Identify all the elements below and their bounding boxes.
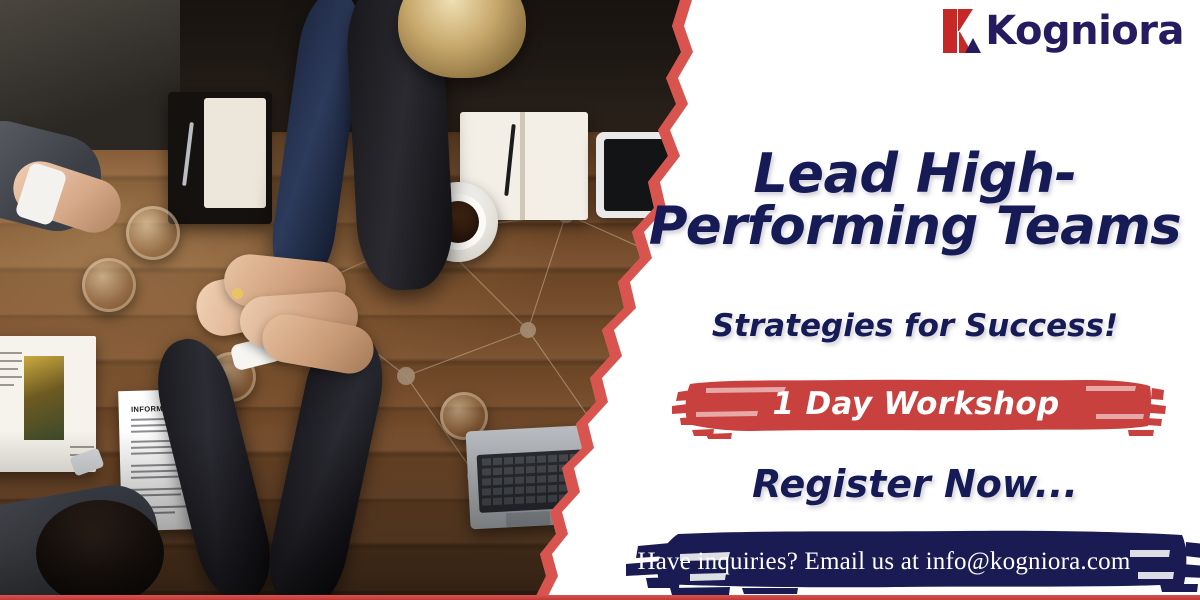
brand-logo[interactable]: Kogniora: [939, 6, 1184, 56]
gold-ring: [232, 288, 243, 299]
bottom-red-rule: [0, 595, 1200, 600]
contact-footer: Have inquiries? Email us at info@kognior…: [530, 524, 1200, 596]
event-promo-banner: INFORMATION: [0, 0, 1200, 600]
register-cta[interactable]: Register Now...: [630, 462, 1200, 506]
notebook-spine: [520, 112, 525, 220]
magazine-photo: [24, 356, 64, 440]
team-hands-photo: INFORMATION: [0, 0, 700, 600]
brand-wordmark: Kogniora: [985, 11, 1184, 51]
water-glass: [82, 258, 136, 312]
workshop-badge: 1 Day Workshop: [666, 368, 1166, 442]
notepad: [204, 98, 266, 208]
headline-line-2: Performing Teams: [630, 201, 1200, 253]
water-glass: [126, 206, 180, 260]
promo-content-panel: Kogniora Lead High- Performing Teams Str…: [620, 0, 1200, 600]
page-title: Lead High- Performing Teams: [630, 148, 1200, 253]
subtitle: Strategies for Success!: [630, 308, 1200, 344]
contact-email-text: Have inquiries? Email us at info@kognior…: [530, 524, 1200, 596]
headline-line-1: Lead High-: [630, 148, 1200, 201]
badge-label: 1 Day Workshop: [666, 368, 1166, 442]
kogniora-k-icon: [939, 6, 985, 56]
